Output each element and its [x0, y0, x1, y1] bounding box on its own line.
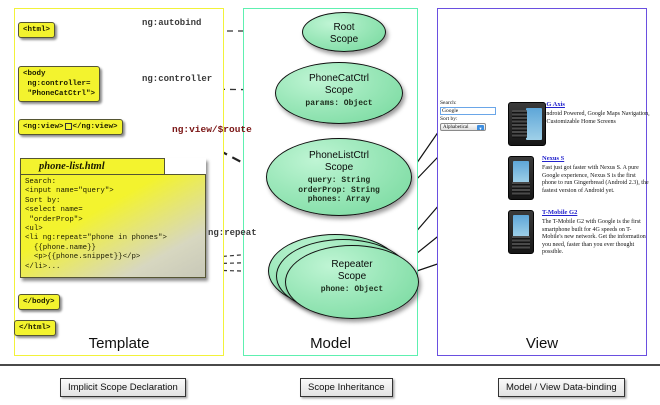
phone-keyboard	[512, 110, 527, 138]
template-panel-label: Template	[15, 335, 223, 352]
scope-root-name-1: Root	[303, 22, 385, 34]
html-open-tag: <html>	[18, 22, 55, 38]
search-label: Search:	[440, 100, 500, 107]
ngview-open-tag: <ng:view>	[23, 123, 64, 131]
phone-slider-image	[508, 102, 546, 146]
legend-item-implicit-scope-declaration: Implicit Scope Declaration	[60, 378, 186, 397]
ngview-close-tag: </ng:view>	[73, 123, 118, 131]
scope-root-name-2: Scope	[303, 34, 385, 46]
diagram-stage: Template <html> <body ng:controller= "Ph…	[0, 0, 660, 405]
phone-text: LG Axis Android Powered, Google Maps Nav…	[542, 100, 650, 126]
scope-repeater-name-2: Scope	[286, 271, 418, 283]
phone-list-callout: phone-list.html Search: <input name="que…	[20, 158, 206, 278]
phone-name-link[interactable]: T-Mobile G2	[542, 208, 650, 217]
scope-phonelistctrl-name-1: PhoneListCtrl	[267, 150, 411, 162]
callout-title: phone-list.html	[20, 158, 165, 174]
phone-snippet: Fast just got faster with Nexus S. A pur…	[542, 165, 650, 195]
scope-root: Root Scope	[302, 12, 386, 52]
ngview-placeholder-square	[65, 123, 72, 130]
phone-candybar-image	[508, 210, 534, 254]
list-item: LG Axis Android Powered, Google Maps Nav…	[508, 100, 650, 148]
callout-code: Search: <input name="query"> Sort by: <s…	[20, 174, 206, 278]
scope-phonelistctrl: PhoneListCtrl Scope query: String orderP…	[266, 138, 412, 216]
phone-snippet: Android Powered, Google Maps Navigation,…	[542, 111, 650, 126]
sort-select[interactable]: Alphabetical▾	[440, 123, 486, 131]
scope-phonecatctrl: PhoneCatCtrl Scope params: Object	[275, 62, 403, 124]
body-close-tag: </body>	[18, 294, 60, 310]
sort-select-value: Alphabetical	[443, 125, 469, 130]
scope-phonelistctrl-props: query: String orderProp: String phones: …	[267, 176, 411, 205]
phone-candybar-image	[508, 156, 534, 200]
list-item: Nexus S Fast just got faster with Nexus …	[508, 154, 650, 202]
body-open-tag: <body ng:controller= "PhoneCatCtrl">	[18, 66, 100, 102]
sort-label: Sort by:	[440, 116, 500, 123]
phone-keyboard	[512, 182, 530, 196]
scope-phonecatctrl-name-2: Scope	[276, 85, 402, 97]
phone-text: T-Mobile G2 The T-Mobile G2 with Google …	[542, 208, 650, 257]
label-ng-autobind: ng:autobind	[142, 18, 201, 28]
legend: Implicit Scope Declaration Scope Inherit…	[0, 364, 660, 405]
html-close-tag: </html>	[14, 320, 56, 336]
phone-list: LG Axis Android Powered, Google Maps Nav…	[508, 100, 650, 263]
scope-phonelistctrl-name-2: Scope	[267, 162, 411, 174]
scope-phonecatctrl-props: params: Object	[276, 99, 402, 109]
label-ng-repeat: ng:repeat	[208, 228, 257, 238]
ngview-tag: <ng:view></ng:view>	[18, 119, 123, 135]
phone-text: Nexus S Fast just got faster with Nexus …	[542, 154, 650, 195]
scope-phonecatctrl-name-1: PhoneCatCtrl	[276, 73, 402, 85]
phone-screen	[513, 161, 529, 183]
chevron-down-icon: ▾	[477, 125, 484, 131]
label-ng-controller: ng:controller	[142, 74, 212, 84]
phone-screen	[526, 108, 542, 140]
scope-repeater-props: phone: Object	[286, 285, 418, 295]
model-panel-label: Model	[244, 335, 417, 352]
scope-repeater: Repeater Scope phone: Object	[285, 245, 419, 319]
phone-name-link[interactable]: LG Axis	[542, 100, 650, 109]
view-search-form: Search: Google Sort by: Alphabetical▾	[440, 100, 500, 131]
label-ng-view-route: ng:view/$route	[172, 124, 252, 135]
body-tag-line1: <body	[23, 70, 46, 78]
phone-snippet: The T-Mobile G2 with Google is the first…	[542, 219, 650, 257]
legend-item-data-binding: Model / View Data-binding	[498, 378, 625, 397]
view-panel-label: View	[438, 335, 646, 352]
phone-name-link[interactable]: Nexus S	[542, 154, 650, 163]
scope-repeater-name-1: Repeater	[286, 259, 418, 271]
phone-screen	[513, 215, 529, 237]
body-tag-line2: ng:controller=	[23, 80, 91, 88]
phone-keyboard	[512, 236, 530, 250]
list-item: T-Mobile G2 The T-Mobile G2 with Google …	[508, 208, 650, 257]
body-tag-line3: "PhoneCatCtrl">	[23, 90, 95, 98]
search-input[interactable]: Google	[440, 107, 496, 115]
legend-item-scope-inheritance: Scope Inheritance	[300, 378, 393, 397]
